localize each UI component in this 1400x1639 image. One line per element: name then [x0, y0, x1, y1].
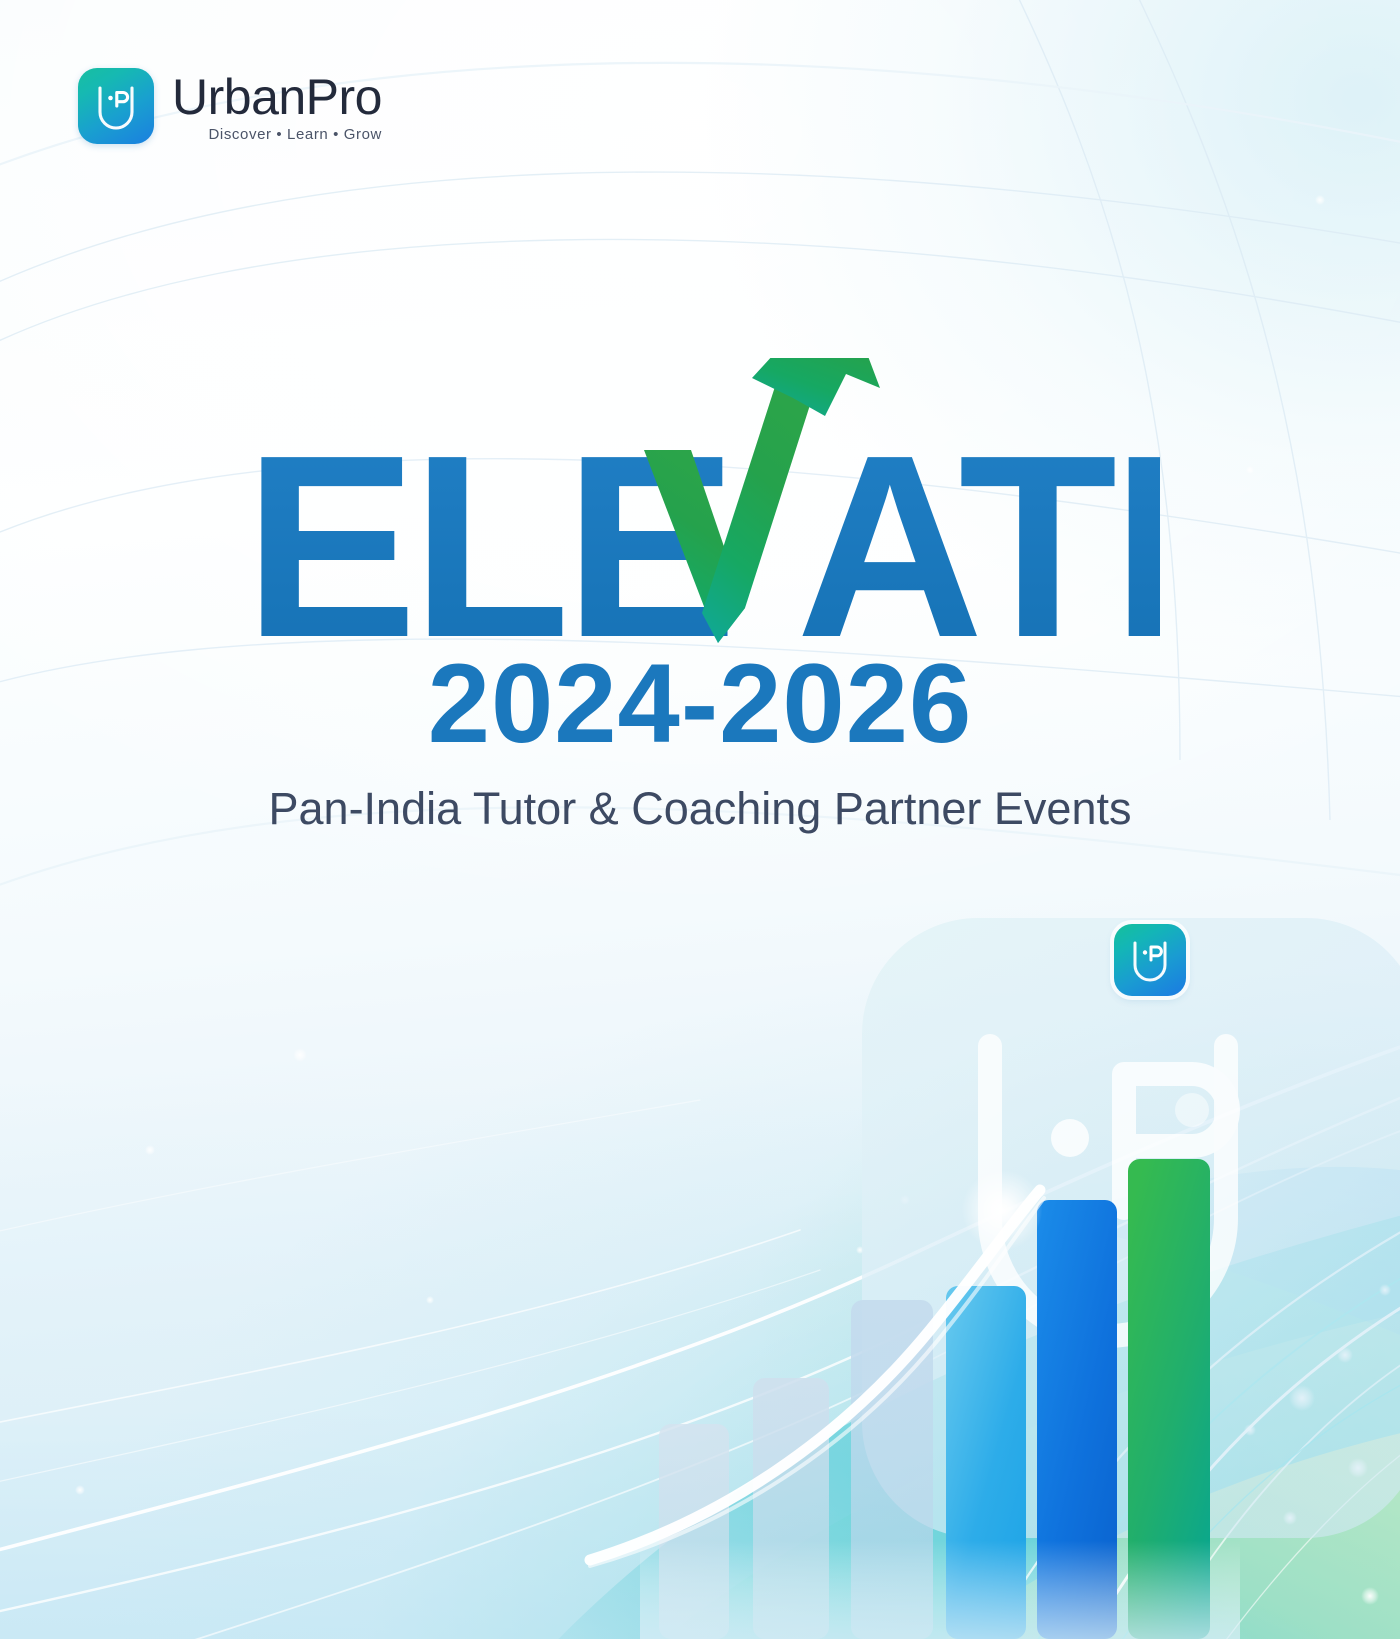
chart-bars: [640, 1159, 1240, 1639]
growth-bar-chart: [0, 0, 1400, 1639]
poster-canvas: UrbanPro Discover • Learn • Grow ELE: [0, 0, 1400, 1639]
